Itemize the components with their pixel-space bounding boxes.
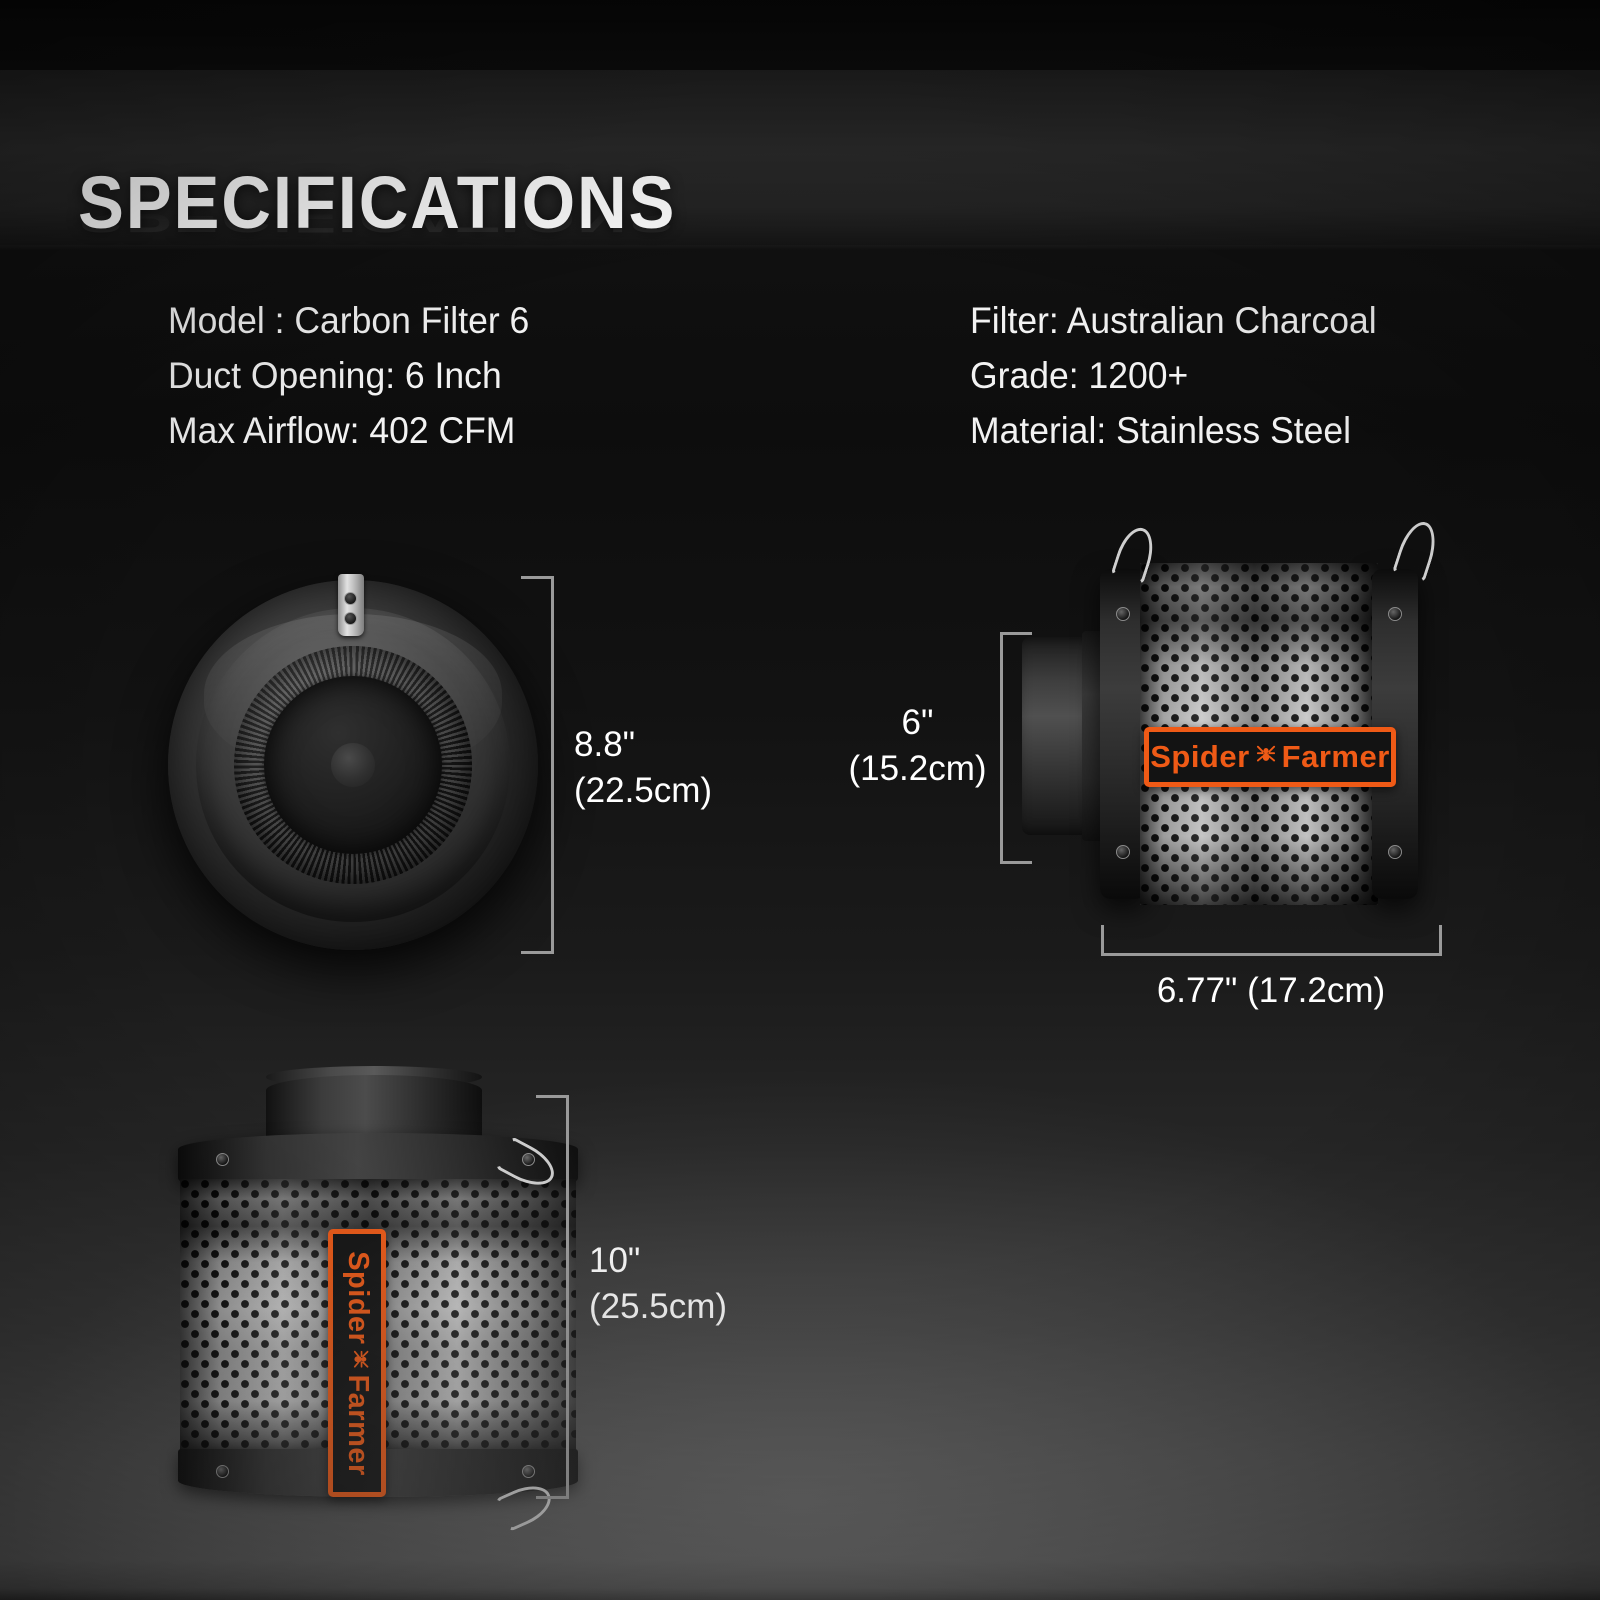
hanger-bracket-icon <box>338 574 364 636</box>
brand-logo-badge: Spider Farmer <box>1144 727 1396 787</box>
specifications-page: SPECIFICATIONS SPECIFICATIONS Model : Ca… <box>0 0 1600 1600</box>
product-bottom-view: Spider Farmer <box>178 1075 578 1525</box>
dimension-cap-left <box>1101 925 1104 956</box>
dimension-cap-top <box>536 1095 569 1098</box>
brand-word-farmer: Farmer <box>1282 739 1390 775</box>
title-band: SPECIFICATIONS SPECIFICATIONS <box>0 70 1600 245</box>
spec-item-filter: Filter: Australian Charcoal <box>970 294 1377 349</box>
hanger-wire-icon <box>1392 517 1442 583</box>
dimension-value-inch: 8.8" <box>574 722 712 768</box>
brand-logo-text: Spider Farmer <box>1150 739 1390 775</box>
dimension-cap-bottom <box>1000 861 1032 864</box>
dimension-cap-top <box>521 576 554 579</box>
dimension-value-cm: (22.5cm) <box>574 768 712 814</box>
dimension-cap-top <box>1000 632 1032 635</box>
spider-icon <box>1253 739 1279 775</box>
dimension-line <box>1101 953 1442 956</box>
spec-item-grade: Grade: 1200+ <box>970 349 1377 404</box>
bracket-screw-icon <box>344 612 357 625</box>
dimension-label-bottom-height: 10" (25.5cm) <box>589 1238 727 1330</box>
endcap-screw-icon <box>522 1465 535 1478</box>
bracket-screw-icon <box>344 592 357 605</box>
dimension-label-side-height: 6" (15.2cm) <box>845 700 990 792</box>
dimension-value-inch: 10" <box>589 1238 727 1284</box>
spec-item-model: Model : Carbon Filter 6 <box>168 294 529 349</box>
dimension-line <box>551 576 554 954</box>
brand-word-spider: Spider <box>341 1251 374 1344</box>
spec-item-max-airflow: Max Airflow: 402 CFM <box>168 404 529 459</box>
dimension-cap-bottom <box>521 951 554 954</box>
brand-word-farmer: Farmer <box>341 1374 374 1475</box>
brand-word-spider: Spider <box>1150 739 1249 775</box>
spec-column-left: Model : Carbon Filter 6 Duct Opening: 6 … <box>168 294 544 458</box>
dimension-value-cm: (25.5cm) <box>589 1284 727 1330</box>
spec-item-duct-opening: Duct Opening: 6 Inch <box>168 349 529 404</box>
dimension-label-front-diameter: 8.8" (22.5cm) <box>574 722 712 814</box>
endcap-screw-icon <box>1388 607 1402 621</box>
dimension-line <box>566 1095 569 1499</box>
endcap-screw-icon <box>216 1465 229 1478</box>
dimension-cap-right <box>1439 925 1442 956</box>
endcap-screw-icon <box>1116 607 1130 621</box>
spec-item-material: Material: Stainless Steel <box>970 404 1377 459</box>
filter-center-hub <box>331 743 375 787</box>
page-title-wrapper: SPECIFICATIONS SPECIFICATIONS <box>78 166 721 240</box>
dimension-line <box>1000 632 1003 864</box>
product-front-view <box>168 570 538 960</box>
spec-column-right: Filter: Australian Charcoal Grade: 1200+… <box>970 294 1394 458</box>
endcap-screw-icon <box>1388 845 1402 859</box>
dimension-value-cm: (15.2cm) <box>845 746 990 792</box>
endcap-screw-icon <box>216 1153 229 1166</box>
brand-logo-text: Spider Farmer <box>341 1251 374 1476</box>
spider-icon <box>341 1347 374 1371</box>
product-side-view: Spider Farmer <box>1022 545 1462 925</box>
brand-logo-badge: Spider Farmer <box>328 1229 386 1497</box>
dimension-label-side-length: 6.77" (17.2cm) <box>1081 968 1461 1014</box>
dimension-value-inch: 6" <box>845 700 990 746</box>
endcap-screw-icon <box>1116 845 1130 859</box>
page-title: SPECIFICATIONS <box>78 166 676 240</box>
dimension-cap-bottom <box>536 1496 569 1499</box>
